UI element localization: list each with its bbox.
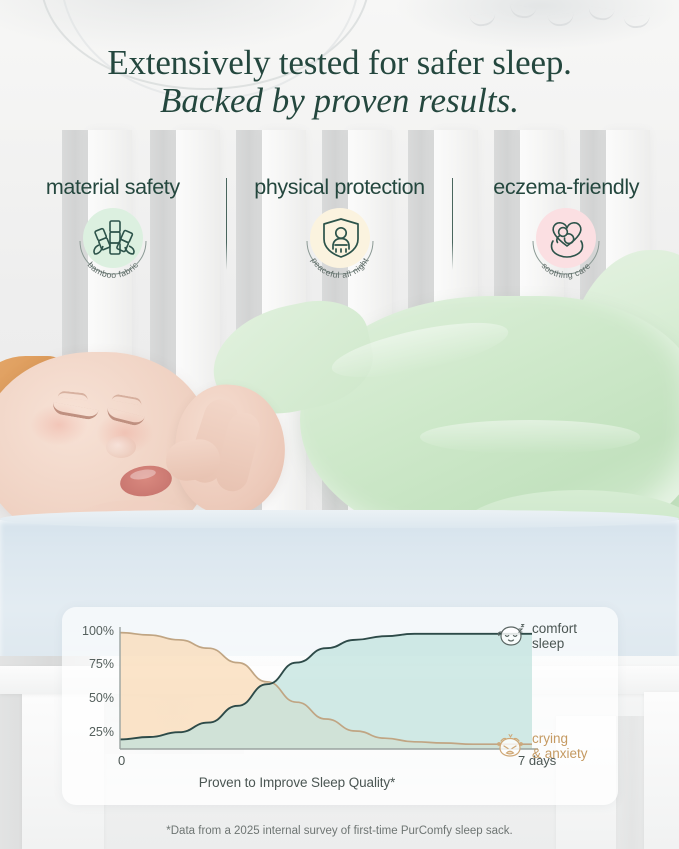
svg-text:bamboo fabric: bamboo fabric [85, 260, 140, 280]
y-axis-labels: 100% 75% 50% 25% [62, 607, 114, 747]
feature-title: material safety [0, 175, 226, 200]
x-tick-label-start: 0 [118, 753, 125, 768]
svg-text:soothing care: soothing care [540, 261, 593, 280]
legend-label-line-1: crying [532, 731, 588, 746]
bamboo-stalks-icon [91, 215, 137, 261]
legend-crying-anxiety: crying & anxiety [532, 731, 588, 761]
y-tick-label: 50% [89, 691, 114, 705]
legend-label-line-1: comfort [532, 621, 577, 636]
sleep-quality-chart-panel: 100% 75% 50% 25% 0 7 days Proven [62, 607, 618, 805]
legend-label-line-2: & anxiety [532, 746, 588, 761]
feature-title: physical protection [227, 175, 453, 200]
feature-badge: soothing care [527, 202, 605, 280]
legend-label-line-2: sleep [532, 636, 577, 651]
y-tick-label: 75% [89, 657, 114, 671]
page-title: Extensively tested for safer sleep. Back… [0, 44, 679, 120]
headline-line-2: Backed by proven results. [0, 82, 679, 120]
chart-caption: Proven to Improve Sleep Quality* [62, 775, 532, 790]
headline-line-1: Extensively tested for safer sleep. [0, 44, 679, 82]
y-tick-label: 25% [89, 725, 114, 739]
legend-comfort-sleep: comfort sleep [532, 621, 577, 651]
feature-material-safety: material safety bamboo fabric [0, 175, 226, 280]
feature-list: material safety bamboo fabric [0, 175, 679, 285]
feature-badge: peaceful all night [301, 202, 379, 280]
shield-baby-icon [318, 215, 364, 261]
feature-physical-protection: physical protection peaceful all night [227, 175, 453, 280]
chart-area: 100% 75% 50% 25% 0 7 days Proven [62, 607, 618, 805]
feature-title: eczema-friendly [453, 175, 679, 200]
crying-baby-face-icon [495, 732, 525, 758]
feature-badge: bamboo fabric [74, 202, 152, 280]
footnote: *Data from a 2025 internal survey of fir… [0, 825, 679, 837]
arc-label-text: bamboo fabric [85, 260, 140, 280]
heart-hands-baby-icon [544, 215, 590, 261]
feature-eczema-friendly: eczema-friendly soothing care [453, 175, 679, 280]
sleeping-baby-face-icon [497, 623, 527, 649]
arc-label-text: soothing care [540, 261, 593, 280]
y-tick-label: 100% [82, 624, 114, 638]
